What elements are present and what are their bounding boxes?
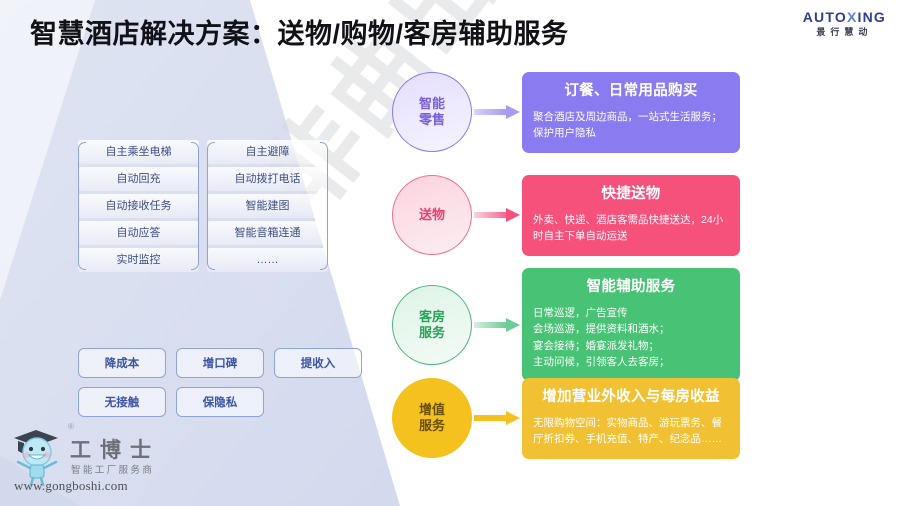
autoxing-logo: AUTOXING 景行慧动 bbox=[803, 10, 886, 37]
service-circle-label-line2: 服务 bbox=[419, 325, 445, 341]
benefit-badge: 降成本 bbox=[78, 348, 166, 378]
service-card-roomservice: 智能辅助服务 日常巡逻，广告宣传 会场巡游，提供资料和酒水； 宴会接待；婚宴派发… bbox=[522, 268, 740, 381]
benefit-badge: 无接触 bbox=[78, 387, 166, 417]
arrow-right-icon bbox=[474, 208, 520, 222]
benefit-badge: 保隐私 bbox=[176, 387, 264, 417]
spec-item: 自动接收任务 bbox=[78, 194, 199, 218]
brand-url: www.gongboshi.com bbox=[14, 478, 128, 494]
service-card-retail: 订餐、日常用品购买 聚合酒店及周边商品，一站式生活服务；保护用户隐私 bbox=[522, 72, 740, 153]
service-card-body: 无限购物空间：实物商品、游玩票务、餐厅折扣券、手机充值、特产、纪念品…… bbox=[533, 415, 729, 448]
spec-item: 自主乘坐电梯 bbox=[78, 140, 199, 164]
service-circle-label-line1: 增值 bbox=[419, 402, 445, 418]
logo-wordmark-part-x: X bbox=[847, 9, 858, 25]
service-circle-valueadded: 增值 服务 bbox=[392, 378, 472, 458]
brand-name: 工博士 bbox=[70, 434, 160, 464]
spec-item: 实时监控 bbox=[78, 248, 199, 272]
arrow-right-icon bbox=[474, 318, 520, 332]
capability-spec-panel: 自主乘坐电梯 自动回充 自动接收任务 自动应答 实时监控 自主避障 自动拨打电话… bbox=[78, 140, 328, 272]
spec-item: 智能建图 bbox=[207, 194, 328, 218]
logo-wordmark: AUTOXING bbox=[803, 10, 886, 24]
spec-item: 智能音箱连通 bbox=[207, 221, 328, 245]
service-card-title: 快捷送物 bbox=[533, 185, 729, 203]
service-circle-delivery: 送物 bbox=[392, 175, 472, 255]
gongboshi-brand: ® 工博士 智能工厂服务商 www.gongboshi.com bbox=[8, 422, 188, 500]
registered-mark: ® bbox=[68, 422, 74, 431]
arrow-right-icon bbox=[474, 411, 520, 425]
spec-column-right: 自主避障 自动拨打电话 智能建图 智能音箱连通 …… bbox=[207, 140, 328, 272]
service-card-title: 增加营业外收入与每房收益 bbox=[533, 388, 729, 406]
benefit-badge-row-2: 无接触 保隐私 bbox=[78, 387, 338, 417]
service-circle-label-line1: 送物 bbox=[419, 207, 445, 223]
logo-subtitle: 景行慧动 bbox=[803, 28, 886, 37]
service-circle-retail: 智能 零售 bbox=[392, 72, 472, 152]
spec-item: 自主避障 bbox=[207, 140, 328, 164]
mascot-icon bbox=[10, 424, 66, 486]
service-card-body: 外卖、快递、酒店客需品快捷送达，24小时自主下单自动运送 bbox=[533, 212, 729, 245]
service-row-retail: 智能 零售 订餐、日常用品购买 聚合酒店及周边商品，一站式生活服务；保护用户隐私 bbox=[392, 72, 740, 153]
benefit-badge-group: 降成本 增口碑 提收入 无接触 保隐私 bbox=[78, 348, 338, 426]
service-card-body: 日常巡逻，广告宣传 会场巡游，提供资料和酒水； 宴会接待；婚宴派发礼物； 主动问… bbox=[533, 305, 729, 370]
spec-item: 自动回充 bbox=[78, 167, 199, 191]
service-card-delivery: 快捷送物 外卖、快递、酒店客需品快捷送达，24小时自主下单自动运送 bbox=[522, 175, 740, 256]
spec-item: 自动应答 bbox=[78, 221, 199, 245]
brand-tagline: 智能工厂服务商 bbox=[71, 462, 154, 476]
service-circle-label-line2: 服务 bbox=[419, 418, 445, 434]
slide-canvas: 非曲出水印 智慧酒店解决方案：送物/购物/客房辅助服务 AUTOXING 景行慧… bbox=[0, 0, 900, 506]
page-title: 智慧酒店解决方案：送物/购物/客房辅助服务 bbox=[30, 12, 569, 51]
service-card-title: 订餐、日常用品购买 bbox=[533, 82, 729, 100]
service-circle-label-line1: 智能 bbox=[419, 96, 445, 112]
service-card-title: 智能辅助服务 bbox=[533, 278, 729, 296]
spec-item: …… bbox=[207, 248, 328, 272]
service-row-valueadded: 增值 服务 增加营业外收入与每房收益 无限购物空间：实物商品、游玩票务、餐厅折扣… bbox=[392, 378, 740, 459]
spec-item: 自动拨打电话 bbox=[207, 167, 328, 191]
service-circle-label-line1: 客房 bbox=[419, 309, 445, 325]
benefit-badge-row-1: 降成本 增口碑 提收入 bbox=[78, 348, 338, 378]
service-row-delivery: 送物 快捷送物 外卖、快递、酒店客需品快捷送达，24小时自主下单自动运送 bbox=[392, 175, 740, 256]
service-row-roomservice: 客房 服务 智能辅助服务 日常巡逻，广告宣传 会场巡游，提供资料和酒水； 宴会接… bbox=[392, 268, 740, 381]
arrow-right-icon bbox=[474, 105, 520, 119]
service-card-body: 聚合酒店及周边商品，一站式生活服务；保护用户隐私 bbox=[533, 109, 729, 142]
logo-wordmark-part-b: ING bbox=[858, 9, 887, 25]
service-circle-roomservice: 客房 服务 bbox=[392, 285, 472, 365]
benefit-badge: 提收入 bbox=[274, 348, 362, 378]
logo-wordmark-part-a: AUTO bbox=[803, 9, 847, 25]
service-circle-label-line2: 零售 bbox=[419, 112, 445, 128]
service-card-valueadded: 增加营业外收入与每房收益 无限购物空间：实物商品、游玩票务、餐厅折扣券、手机充值… bbox=[522, 378, 740, 459]
benefit-badge: 增口碑 bbox=[176, 348, 264, 378]
spec-column-left: 自主乘坐电梯 自动回充 自动接收任务 自动应答 实时监控 bbox=[78, 140, 199, 272]
